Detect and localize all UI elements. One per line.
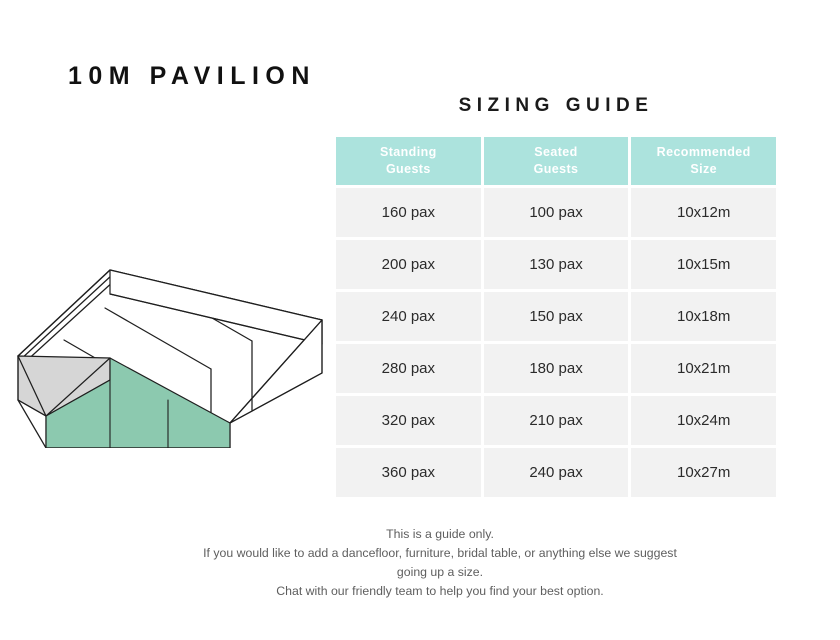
pavilion-marquee-icon <box>6 248 346 448</box>
footer-note-line-4: Chat with our friendly team to help you … <box>120 582 760 601</box>
column-header-seated-guests: Seated Guests <box>484 137 629 185</box>
cell-recommended-size: 10x24m <box>631 396 776 445</box>
cell-standing-guests: 200 pax <box>336 240 481 289</box>
page-title: 10M PAVILION <box>68 62 316 91</box>
column-header-recommended-size-line1: Recommended <box>657 145 751 159</box>
cell-seated-guests: 180 pax <box>484 344 629 393</box>
table-row: 320 pax 210 pax 10x24m <box>336 396 776 445</box>
cell-seated-guests: 100 pax <box>484 188 629 237</box>
sizing-guide-title: SIZING GUIDE <box>336 95 776 117</box>
cell-recommended-size: 10x12m <box>631 188 776 237</box>
cell-standing-guests: 360 pax <box>336 448 481 497</box>
pavilion-illustration <box>6 248 346 448</box>
cell-seated-guests: 130 pax <box>484 240 629 289</box>
cell-standing-guests: 280 pax <box>336 344 481 393</box>
cell-seated-guests: 150 pax <box>484 292 629 341</box>
table-row: 200 pax 130 pax 10x15m <box>336 240 776 289</box>
sizing-table: Standing Guests Seated Guests Recommende… <box>336 137 776 497</box>
footer-note-line-3: going up a size. <box>120 563 760 582</box>
cell-recommended-size: 10x27m <box>631 448 776 497</box>
column-header-standing-guests-line2: Guests <box>386 162 431 176</box>
column-header-recommended-size-line2: Size <box>690 162 717 176</box>
cell-recommended-size: 10x15m <box>631 240 776 289</box>
footer-note: This is a guide only. If you would like … <box>120 525 760 601</box>
cell-recommended-size: 10x21m <box>631 344 776 393</box>
cell-recommended-size: 10x18m <box>631 292 776 341</box>
cell-seated-guests: 240 pax <box>484 448 629 497</box>
cell-standing-guests: 240 pax <box>336 292 481 341</box>
column-header-recommended-size: Recommended Size <box>631 137 776 185</box>
column-header-seated-guests-line1: Seated <box>534 145 577 159</box>
cell-seated-guests: 210 pax <box>484 396 629 445</box>
footer-note-line-2: If you would like to add a dancefloor, f… <box>120 544 760 563</box>
table-row: 360 pax 240 pax 10x27m <box>336 448 776 497</box>
table-row: 280 pax 180 pax 10x21m <box>336 344 776 393</box>
cell-standing-guests: 160 pax <box>336 188 481 237</box>
footer-note-line-1: This is a guide only. <box>120 525 760 544</box>
table-row: 160 pax 100 pax 10x12m <box>336 188 776 237</box>
cell-standing-guests: 320 pax <box>336 396 481 445</box>
table-header-row: Standing Guests Seated Guests Recommende… <box>336 137 776 185</box>
column-header-standing-guests-line1: Standing <box>380 145 437 159</box>
column-header-seated-guests-line2: Guests <box>534 162 579 176</box>
column-header-standing-guests: Standing Guests <box>336 137 481 185</box>
table-row: 240 pax 150 pax 10x18m <box>336 292 776 341</box>
